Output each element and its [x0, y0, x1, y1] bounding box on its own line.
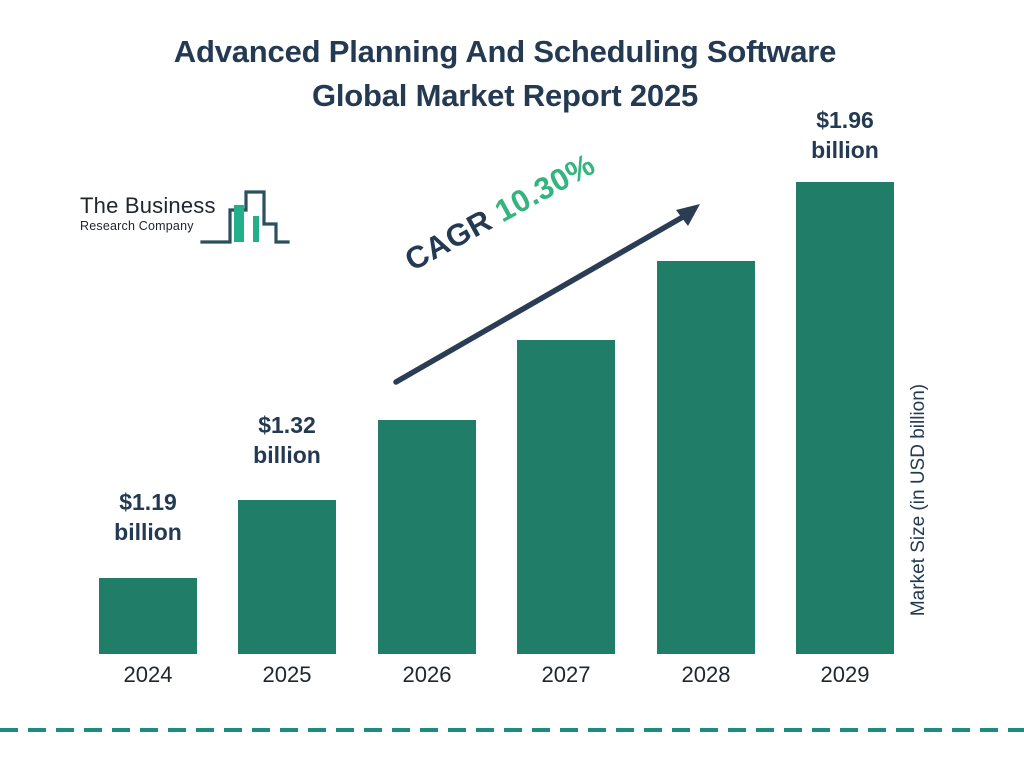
bar-value-label-2025: $1.32 billion — [222, 410, 352, 470]
footer-divider — [0, 728, 1024, 732]
company-logo: The Business Research Company — [80, 186, 290, 248]
logo-bar-chart-icon — [200, 186, 290, 253]
x-tick-label-2027: 2027 — [501, 662, 631, 688]
cagr-value: 10.30% — [489, 147, 601, 229]
bar-2025 — [238, 500, 336, 654]
chart-canvas: Advanced Planning And Scheduling Softwar… — [0, 0, 1024, 768]
bar-value-label-2025-amount: $1.32 — [258, 412, 316, 438]
x-tick-label-2025: 2025 — [222, 662, 352, 688]
bar-value-label-2025-unit: billion — [253, 442, 321, 468]
bar-2027 — [517, 340, 615, 654]
bar-value-label-2024-unit: billion — [114, 519, 182, 545]
cagr-label: CAGR — [399, 202, 498, 277]
x-tick-label-2028: 2028 — [641, 662, 771, 688]
chart-title-line-1: Advanced Planning And Scheduling Softwar… — [40, 30, 970, 74]
bar-value-label-2024-amount: $1.19 — [119, 489, 177, 515]
bar-2026 — [378, 420, 476, 654]
bar-2029 — [796, 182, 894, 654]
bar-value-label-2029-amount: $1.96 — [816, 107, 874, 133]
bar-value-label-2024: $1.19 billion — [83, 487, 213, 547]
x-tick-label-2026: 2026 — [362, 662, 492, 688]
bar-value-label-2029: $1.96 billion — [780, 105, 910, 165]
logo-wordmark: The Business Research Company — [80, 194, 216, 234]
y-axis-title: Market Size (in USD billion) — [908, 0, 930, 330]
y-axis-title-text: Market Size (in USD billion) — [908, 330, 930, 670]
cagr-annotation: CAGR 10.30% — [399, 147, 601, 279]
x-tick-label-2024: 2024 — [83, 662, 213, 688]
x-tick-label-2029: 2029 — [780, 662, 910, 688]
logo-line-1: The Business — [80, 194, 216, 218]
bar-2028 — [657, 261, 755, 654]
logo-line-2: Research Company — [80, 218, 216, 234]
bar-value-label-2029-unit: billion — [811, 137, 879, 163]
bar-2024 — [99, 578, 197, 654]
